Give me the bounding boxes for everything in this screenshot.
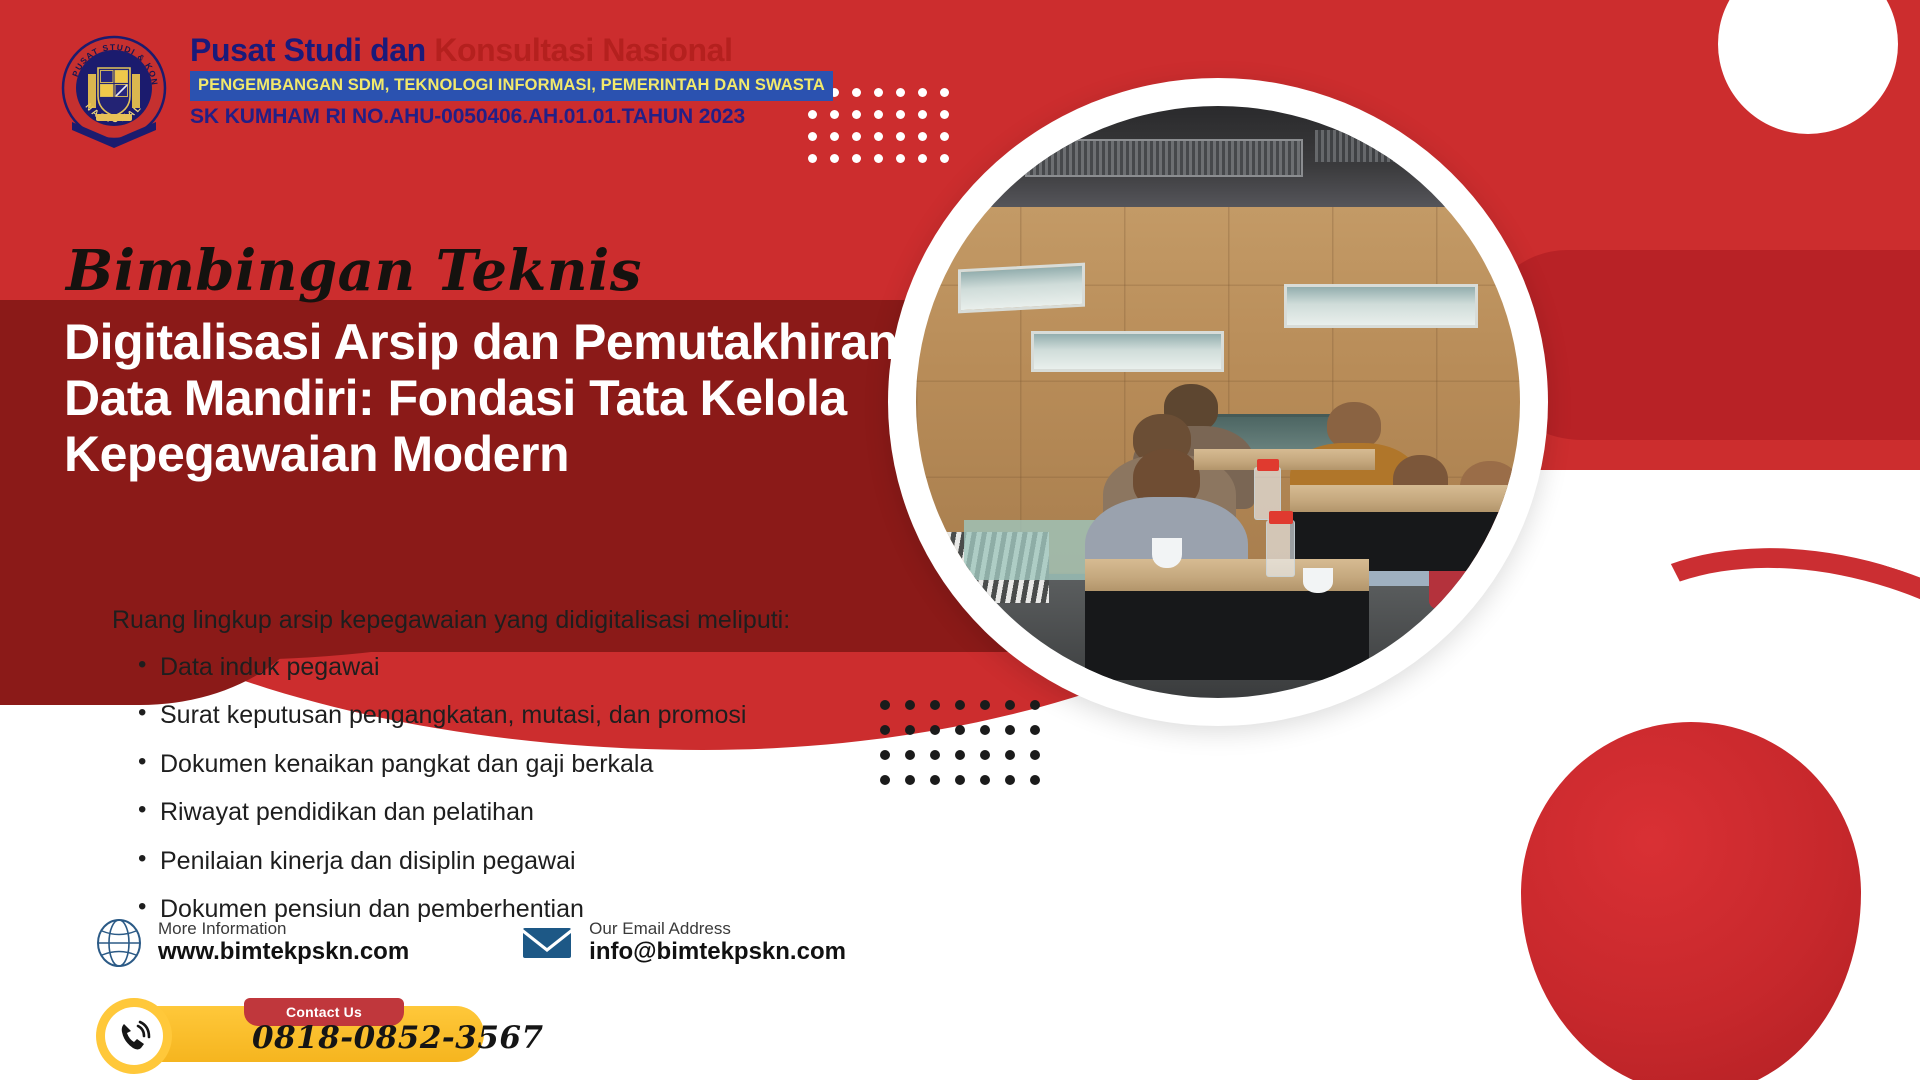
scope-section: Ruang lingkup arsip kepegawaian yang did…	[112, 604, 790, 942]
organization-legal-registration: SK KUMHAM RI NO.AHU-0050406.AH.01.01.TAH…	[190, 105, 833, 129]
poster-canvas: PUSAT STUDI & KONSULTASI NASIONAL Pusat …	[0, 0, 1920, 1080]
seminar-photo	[916, 106, 1520, 698]
phone-icon-circle	[96, 998, 172, 1074]
email-label: Our Email Address	[589, 919, 846, 939]
email-value[interactable]: info@bimtekpskn.com	[589, 938, 846, 967]
organization-name: Pusat Studi dan Konsultasi Nasional	[190, 34, 833, 68]
organization-name-part1: Pusat Studi dan	[190, 32, 426, 68]
website-label: More Information	[158, 919, 409, 939]
event-title: Digitalisasi Arsip dan Pemutakhiran Data…	[64, 314, 924, 482]
event-type-eyebrow: Bimbingan Teknis	[66, 238, 642, 304]
red-blob-decoration	[1521, 722, 1861, 1080]
list-item: Data induk pegawai	[138, 651, 790, 684]
website-value[interactable]: www.bimtekpskn.com	[158, 938, 409, 967]
brand-text-block: Pusat Studi dan Konsultasi Nasional PENG…	[190, 30, 833, 129]
brand-header: PUSAT STUDI & KONSULTASI NASIONAL Pusat …	[60, 30, 833, 150]
list-item: Surat keputusan pengangkatan, mutasi, da…	[138, 699, 790, 732]
list-item: Riwayat pendidikan dan pelatihan	[138, 796, 790, 829]
organization-tagline: PENGEMBANGAN SDM, TEKNOLOGI INFORMASI, P…	[190, 71, 833, 101]
list-item: Dokumen kenaikan pangkat dan gaji berkal…	[138, 748, 790, 781]
scope-intro: Ruang lingkup arsip kepegawaian yang did…	[112, 604, 790, 637]
event-title-line-3: Kepegawaian Modern	[64, 426, 924, 482]
list-item: Penilaian kinerja dan disiplin pegawai	[138, 845, 790, 878]
envelope-icon	[521, 923, 573, 963]
event-title-line-2: Data Mandiri: Fondasi Tata Kelola	[64, 370, 924, 426]
phone-number[interactable]: 0818-0852-3567	[252, 1020, 544, 1056]
seminar-photo-frame	[888, 78, 1548, 726]
organization-logo: PUSAT STUDI & KONSULTASI NASIONAL	[60, 30, 168, 150]
organization-name-part2: Konsultasi Nasional	[434, 32, 732, 68]
contact-info-row: More Information www.bimtekpskn.com Our …	[96, 918, 846, 968]
website-contact[interactable]: More Information www.bimtekpskn.com	[96, 918, 409, 968]
email-contact[interactable]: Our Email Address info@bimtekpskn.com	[521, 919, 846, 967]
phone-icon	[116, 1018, 152, 1054]
scope-bullet-list: Data induk pegawai Surat keputusan penga…	[112, 651, 790, 926]
dot-grid-bottom-decoration	[880, 700, 1049, 794]
event-title-line-1: Digitalisasi Arsip dan Pemutakhiran	[64, 314, 924, 370]
globe-icon	[96, 918, 142, 968]
